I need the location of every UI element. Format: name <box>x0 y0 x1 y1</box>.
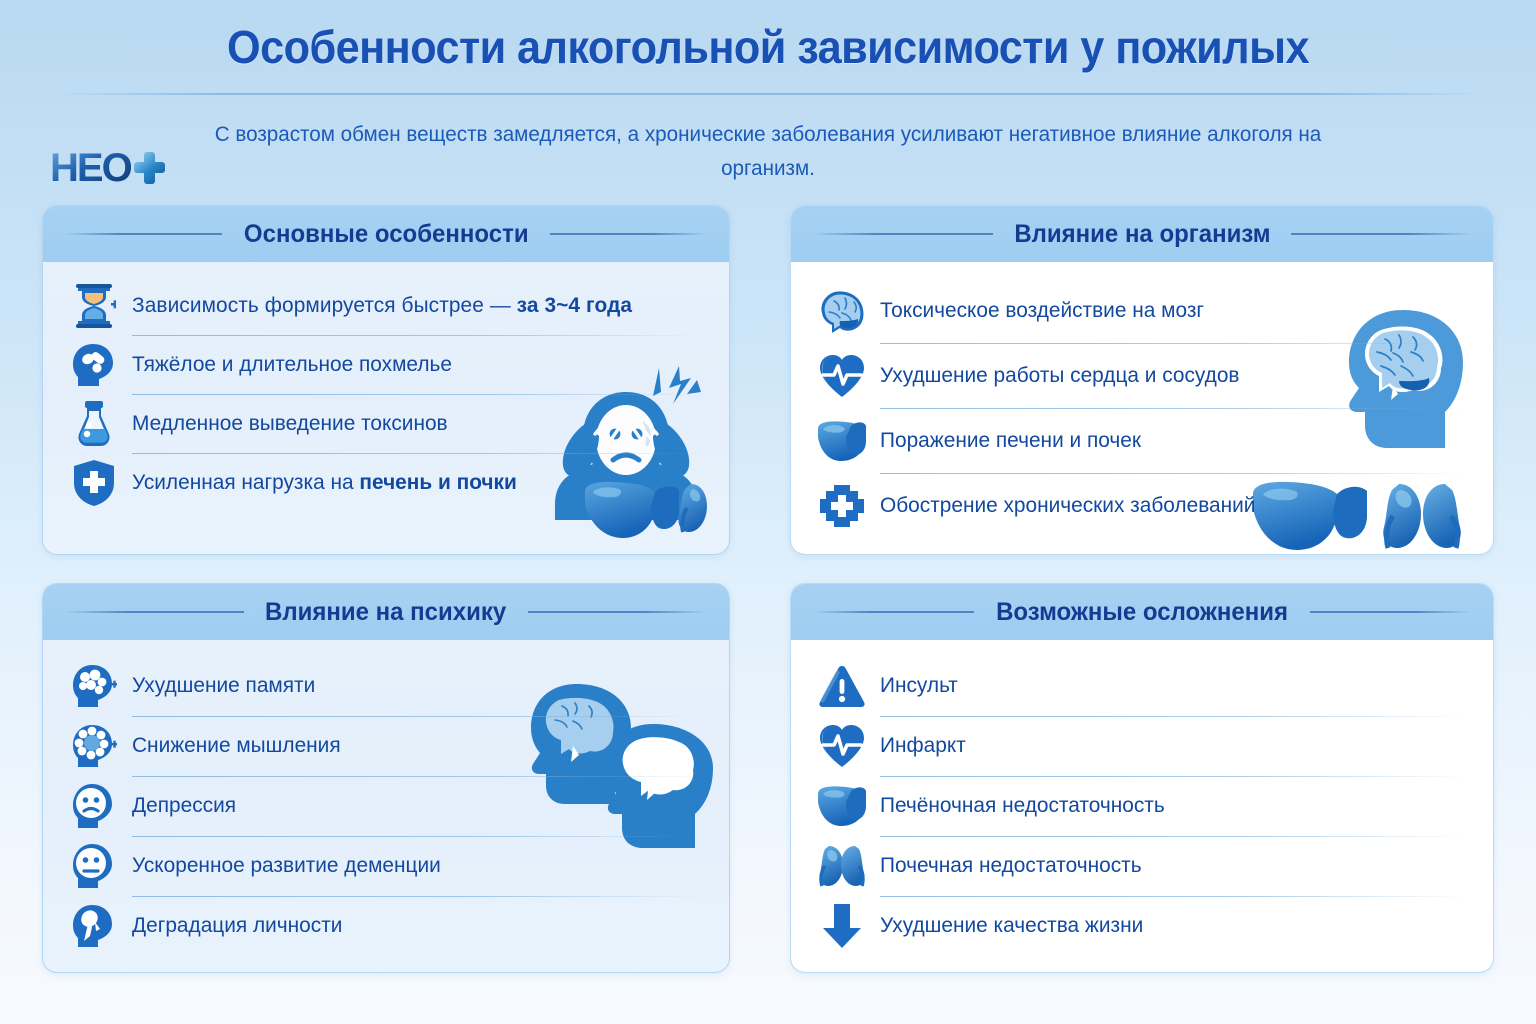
list-item[interactable]: Деградация личности <box>69 896 703 956</box>
card-body: Токсическое воздействие на мозг Ухудшени… <box>791 262 1493 554</box>
list-item-label: Поражение печени и почек <box>880 428 1141 454</box>
shield-cross-icon <box>69 458 119 508</box>
card-title: Влияние на организм <box>1014 220 1270 249</box>
card-title: Возможные осложнения <box>996 598 1288 627</box>
page-subtitle: С возрастом обмен веществ замедляется, а… <box>202 117 1335 187</box>
list-item-label: Зависимость формируется быстрее — за 3~4… <box>132 293 632 319</box>
card-header: Влияние на психику <box>43 584 729 640</box>
plus-icon <box>132 151 166 185</box>
header-rule-right <box>1310 611 1471 613</box>
feature-rows: Инсульт Инфаркт <box>817 656 1467 956</box>
list-item-label: Инфаркт <box>880 733 966 759</box>
list-item-label: Ухудшение качества жизни <box>880 913 1143 939</box>
list-item[interactable]: Ухудшение качества жизни <box>817 896 1467 956</box>
header-rule-right <box>550 233 707 235</box>
feature-rows: Зависимость формируется быстрее — за 3~4… <box>69 276 703 512</box>
header-rule-left <box>813 233 993 235</box>
list-item[interactable]: Депрессия <box>69 776 703 836</box>
brand-logo: НЕО <box>50 148 166 188</box>
list-item[interactable]: Ухудшение работы сердца и сосудов <box>817 343 1467 408</box>
list-item-label: Печёночная недостаточность <box>880 793 1165 819</box>
list-item-label: Депрессия <box>132 793 236 819</box>
card-body: Зависимость формируется быстрее — за 3~4… <box>43 262 729 554</box>
list-item[interactable]: Медленное выведение токсинов <box>69 394 703 453</box>
brain-icon <box>817 286 867 336</box>
card-body: Инсульт Инфаркт <box>791 640 1493 972</box>
header-rule-left <box>65 233 222 235</box>
head-dementia-icon <box>69 841 119 891</box>
card-body-impact: Влияние на организм <box>790 205 1494 555</box>
kidneys-icon <box>817 841 867 891</box>
head-degradation-icon <box>69 901 119 951</box>
list-item-label: Почечная недостаточность <box>880 853 1142 879</box>
card-header: Возможные осложнения <box>791 584 1493 640</box>
card-body: Ухудшение памяти <box>43 640 729 972</box>
hourglass-icon <box>69 281 119 331</box>
header-rule-right <box>528 611 707 613</box>
card-psyche-impact: Влияние на психику <box>42 583 730 973</box>
card-title: Влияние на психику <box>265 598 506 627</box>
feature-rows: Токсическое воздействие на мозг Ухудшени… <box>817 278 1467 538</box>
page-title: Особенности алкогольной зависимости у по… <box>46 22 1490 73</box>
cards-grid: Основные особенности <box>42 205 1494 973</box>
list-item-label: Инсульт <box>880 673 958 699</box>
list-item[interactable]: Инфаркт <box>817 716 1467 776</box>
logo-wordmark: НЕО <box>50 148 131 188</box>
feature-rows: Ухудшение памяти <box>69 656 703 956</box>
list-item-label: Ухудшение работы сердца и сосудов <box>880 363 1240 389</box>
head-memory-icon <box>69 661 119 711</box>
list-item-label: Токсическое воздействие на мозг <box>880 298 1204 324</box>
header-rule-left <box>65 611 244 613</box>
list-item[interactable]: Печёночная недостаточность <box>817 776 1467 836</box>
warning-triangle-icon <box>817 661 867 711</box>
liver-icon <box>817 781 867 831</box>
list-item-label: Деградация личности <box>132 913 342 939</box>
list-item[interactable]: Зависимость формируется быстрее — за 3~4… <box>69 276 703 335</box>
card-header: Основные особенности <box>43 206 729 262</box>
list-item[interactable]: Усиленная нагрузка на печень и почки <box>69 453 703 512</box>
arrow-down-icon <box>817 901 867 951</box>
list-item[interactable]: Тяжёлое и длительное похмелье <box>69 335 703 394</box>
list-item[interactable]: Ухудшение памяти <box>69 656 703 716</box>
page-header: Особенности алкогольной зависимости у по… <box>0 0 1536 186</box>
card-complications: Возможные осложнения Инсульт <box>790 583 1494 973</box>
flask-icon <box>69 399 119 449</box>
head-thinking-icon <box>69 721 119 771</box>
list-item[interactable]: Поражение печени и почек <box>817 408 1467 473</box>
card-main-features: Основные особенности <box>42 205 730 555</box>
title-divider <box>53 93 1483 95</box>
card-header: Влияние на организм <box>791 206 1493 262</box>
heart-pulse-icon <box>817 351 867 401</box>
header-rule-left <box>813 611 974 613</box>
header-rule-right <box>1291 233 1471 235</box>
list-item-label: Тяжёлое и длительное похмелье <box>132 352 452 378</box>
list-item-label: Снижение мышления <box>132 733 341 759</box>
list-item-label: Ускоренное развитие деменции <box>132 853 441 879</box>
list-item[interactable]: Почечная недостаточность <box>817 836 1467 896</box>
list-item[interactable]: Инсульт <box>817 656 1467 716</box>
list-item[interactable]: Токсическое воздействие на мозг <box>817 278 1467 343</box>
heart-pulse-icon <box>817 721 867 771</box>
list-item[interactable]: Обострение хронических заболеваний <box>817 473 1467 538</box>
list-item-label: Усиленная нагрузка на печень и почки <box>132 470 517 496</box>
head-sad-icon <box>69 781 119 831</box>
list-item-label: Медленное выведение токсинов <box>132 411 448 437</box>
list-item[interactable]: Снижение мышления <box>69 716 703 776</box>
liver-icon <box>817 416 867 466</box>
medical-cross-icon <box>817 481 867 531</box>
card-title: Основные особенности <box>244 220 529 249</box>
list-item-label: Обострение хронических заболеваний <box>880 493 1255 519</box>
list-item[interactable]: Ускоренное развитие деменции <box>69 836 703 896</box>
head-pills-icon <box>69 340 119 390</box>
list-item-label: Ухудшение памяти <box>132 673 315 699</box>
